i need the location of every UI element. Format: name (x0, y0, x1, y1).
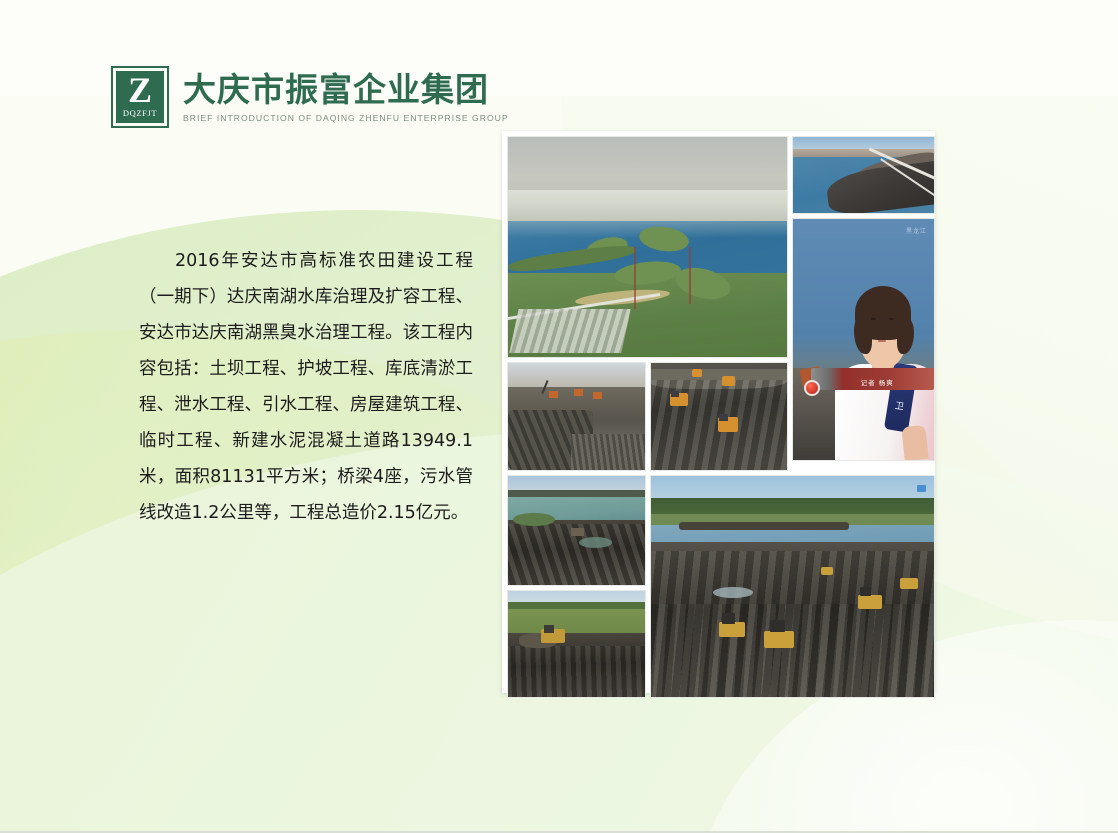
site-panorama-photo (650, 475, 935, 698)
excavators-rubble-photo (507, 362, 646, 471)
aerial-masterplan-rendering (507, 136, 788, 358)
company-name-en: BRIEF INTRODUCTION OF DAQING ZHENFU ENTE… (183, 113, 509, 123)
bulldozers-blackearth-photo (650, 362, 788, 471)
company-logo-icon: Z DQZFJT (111, 66, 169, 128)
photo-collage: 黑龙江 卫 记者 杨爽 (502, 131, 935, 693)
brand-block: 大庆市振富企业集团 BRIEF INTRODUCTION OF DAQING Z… (183, 66, 509, 123)
reporter-name-label: 记者 杨爽 (861, 377, 894, 387)
logo-letter: Z (128, 74, 152, 107)
microphone-logo: 卫 (894, 398, 905, 412)
channel-watermark: 黑龙江 (906, 226, 927, 235)
slide-header: Z DQZFJT 大庆市振富企业集团 BRIEF INTRODUCTION OF… (111, 66, 509, 128)
company-name-cn: 大庆市振富企业集团 (183, 72, 509, 108)
lake-sludge-photo (507, 475, 646, 586)
logo-abbreviation: DQZFJT (123, 108, 157, 118)
grassland-dozer-photo (507, 590, 646, 698)
tv-news-reporter-photo: 黑龙江 卫 记者 杨爽 (792, 218, 935, 461)
slide-canvas: Z DQZFJT 大庆市振富企业集团 BRIEF INTRODUCTION OF… (0, 0, 1118, 833)
channel-badge-icon (917, 485, 926, 492)
aerial-causeway-photo (792, 136, 935, 214)
body-paragraph: 2016年安达市高标准农田建设工程（一期下）达庆南湖水库治理及扩容工程、安达市达… (139, 243, 473, 531)
